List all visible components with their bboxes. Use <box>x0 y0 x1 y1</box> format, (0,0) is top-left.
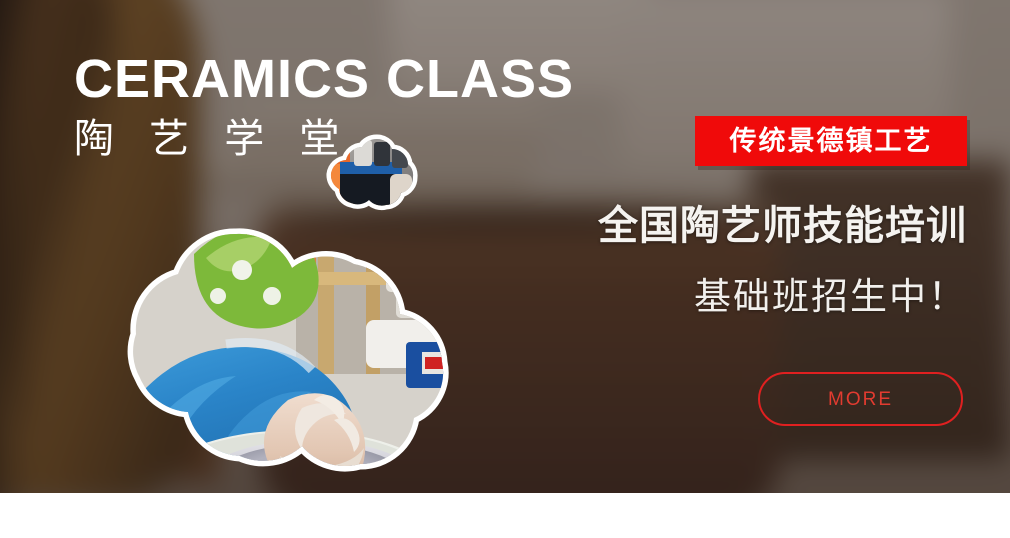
promo-headline: 全国陶艺师技能培训 <box>560 193 967 251</box>
cloud-photo-pottery-tools <box>316 134 420 226</box>
cloud-photo-child-pottery-wheel <box>66 224 546 524</box>
page-title-chinese: 陶 艺 学 堂 <box>74 117 544 161</box>
page-title-english: CERAMICS CLASS <box>74 52 544 107</box>
title-block: CERAMICS CLASS 陶 艺 学 堂 <box>74 52 544 161</box>
promo-subline: 基础班招生中！ <box>560 266 967 320</box>
ceramics-class-banner: CERAMICS CLASS 陶 艺 学 堂 <box>0 0 1010 538</box>
status-badge: 传统景德镇工艺 <box>695 116 967 166</box>
more-button[interactable]: MORE <box>758 372 963 426</box>
promo-block: 传统景德镇工艺 全国陶艺师技能培训 基础班招生中！ MORE <box>695 116 967 166</box>
